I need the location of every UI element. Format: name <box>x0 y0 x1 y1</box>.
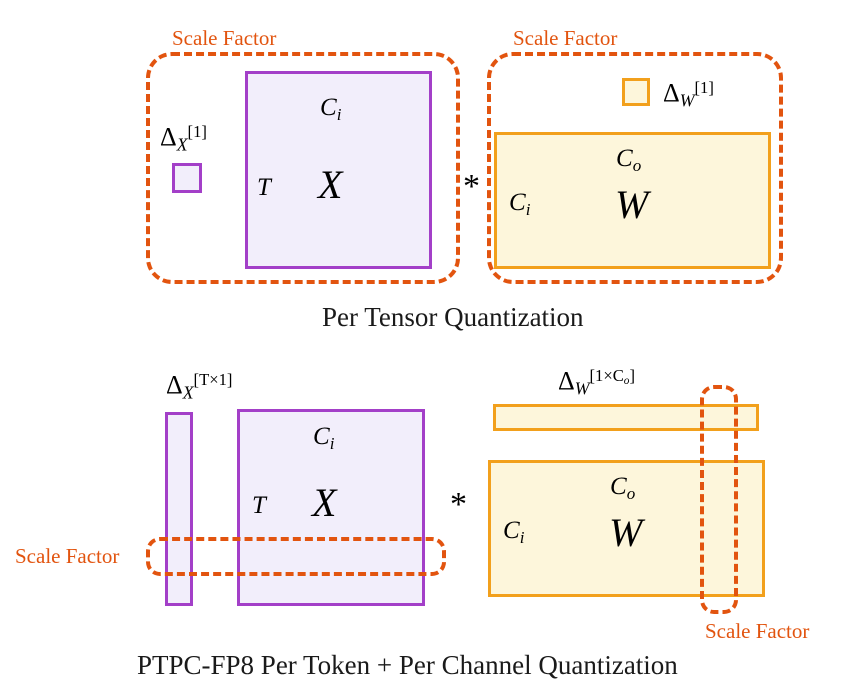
dim-top-letter: C <box>313 423 330 450</box>
dim-top-letter: C <box>610 473 627 500</box>
delta-glyph: Δ <box>160 123 177 152</box>
delta-subscript: X <box>183 383 194 403</box>
top-multiply-operator: * <box>463 170 480 204</box>
delta-superscript: [1] <box>694 78 713 97</box>
bottom-activation-tensor-letter: X <box>312 483 336 523</box>
top-activation-scale-square <box>172 163 202 193</box>
top-activation-dim-left: T <box>257 175 271 200</box>
bottom-activation-dim-left: T <box>252 493 266 518</box>
top-weight-delta-label: ΔW[1] <box>663 80 714 110</box>
bottom-panel-caption: PTPC-FP8 Per Token + Per Channel Quantiz… <box>137 652 678 679</box>
delta-superscript: [1×Co] <box>589 366 635 385</box>
delta-glyph: Δ <box>558 367 575 396</box>
delta-subscript: W <box>680 91 695 111</box>
dim-top-sub: i <box>337 105 342 124</box>
bottom-activation-scale-column <box>165 412 193 606</box>
dim-left-sub: i <box>520 528 525 547</box>
bottom-activation-delta-label: ΔX[T×1] <box>166 372 232 402</box>
top-right-scale-factor-label: Scale Factor <box>513 28 617 49</box>
delta-superscript: [1] <box>188 122 207 141</box>
bottom-weight-channel-scale-strip <box>700 385 738 614</box>
top-activation-delta-label: ΔX[1] <box>160 124 207 154</box>
bottom-weight-dim-top: Co <box>610 474 635 502</box>
quantization-diagram: Scale Factor ΔX[1] Ci T X * Scale Factor… <box>0 0 855 693</box>
dim-left-sub: i <box>526 200 531 219</box>
bottom-activation-token-scale-strip <box>146 537 446 576</box>
bottom-multiply-operator: * <box>450 488 467 522</box>
bottom-right-scale-factor-label: Scale Factor <box>705 621 809 642</box>
delta-subscript: X <box>177 135 188 155</box>
bottom-left-scale-factor-label: Scale Factor <box>15 546 119 567</box>
delta-superscript-main: [1×C <box>589 366 623 385</box>
delta-glyph: Δ <box>166 371 183 400</box>
delta-superscript: [T×1] <box>194 370 233 389</box>
dim-top-letter: C <box>320 94 337 121</box>
top-weight-tensor-letter: W <box>615 185 648 225</box>
bottom-activation-dim-top: Ci <box>313 424 334 452</box>
top-activation-tensor-letter: X <box>318 165 342 205</box>
dim-top-sub: i <box>330 434 335 453</box>
dim-top-sub: o <box>633 156 642 175</box>
top-panel-caption: Per Tensor Quantization <box>322 304 584 331</box>
top-activation-dim-top: Ci <box>320 95 341 123</box>
dim-left-letter: C <box>509 189 526 216</box>
dim-left-letter: C <box>503 517 520 544</box>
dim-top-sub: o <box>627 484 636 503</box>
dim-top-letter: C <box>616 145 633 172</box>
delta-glyph: Δ <box>663 79 680 108</box>
top-weight-dim-left: Ci <box>509 190 530 218</box>
top-weight-scale-square <box>622 78 650 106</box>
top-weight-dim-top: Co <box>616 146 641 174</box>
delta-subscript: W <box>575 379 590 399</box>
bottom-weight-delta-label: ΔW[1×Co] <box>558 368 635 398</box>
bottom-weight-dim-left: Ci <box>503 518 524 546</box>
delta-superscript-end: ] <box>629 366 635 385</box>
bottom-weight-tensor-letter: W <box>609 513 642 553</box>
top-left-scale-factor-label: Scale Factor <box>172 28 276 49</box>
